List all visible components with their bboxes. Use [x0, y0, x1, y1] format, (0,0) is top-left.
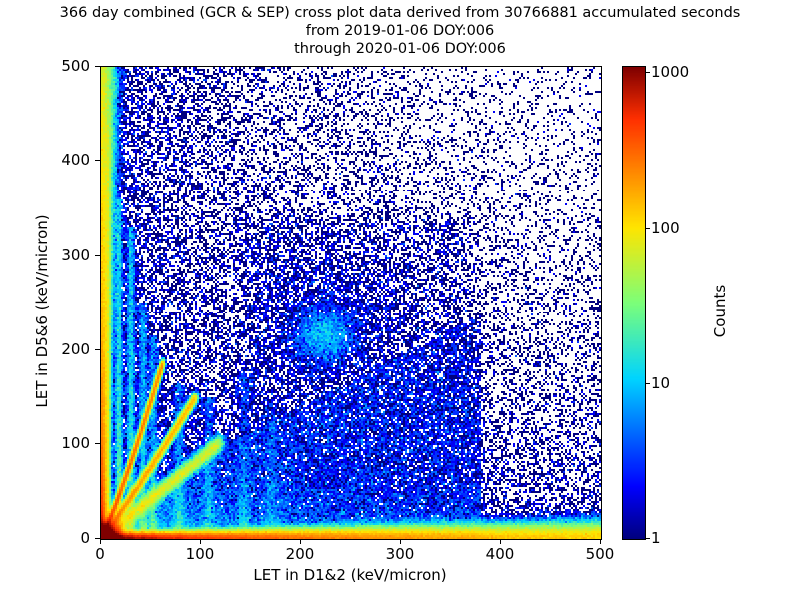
colorbar-tick-mark: [645, 383, 650, 384]
y-tick-mark: [95, 443, 100, 444]
figure-root: 366 day combined (GCR & SEP) cross plot …: [0, 0, 800, 600]
y-tick-mark: [95, 160, 100, 161]
y-tick-label: 200: [61, 340, 90, 358]
y-tick-mark: [95, 66, 100, 67]
x-axis-label: LET in D1&2 (keV/micron): [100, 566, 600, 584]
colorbar-tick-mark: [645, 72, 650, 73]
x-tick-mark: [600, 539, 601, 544]
x-tick-mark: [200, 539, 201, 544]
x-tick-label: 0: [95, 545, 105, 563]
x-tick-label: 500: [586, 545, 615, 563]
colorbar-tick-label: 1000: [651, 63, 689, 81]
density-scatter-canvas: [101, 67, 601, 539]
colorbar-gradient: [623, 67, 645, 539]
x-tick-label: 400: [486, 545, 515, 563]
y-tick-mark: [95, 255, 100, 256]
x-tick-label: 100: [186, 545, 215, 563]
colorbar: [622, 66, 646, 540]
y-tick-label: 400: [61, 151, 90, 169]
x-tick-mark: [400, 539, 401, 544]
y-tick-mark: [95, 349, 100, 350]
colorbar-tick-mark: [645, 538, 650, 539]
colorbar-tick-mark: [645, 228, 650, 229]
y-tick-label: 300: [61, 246, 90, 264]
colorbar-tick-label: 100: [651, 219, 680, 237]
y-tick-label: 100: [61, 434, 90, 452]
title-line-2: from 2019-01-06 DOY:006: [0, 22, 800, 40]
y-axis-label: LET in D5&6 (keV/micron): [33, 151, 51, 471]
colorbar-tick-label: 10: [651, 374, 670, 392]
colorbar-axis-label: Counts: [711, 221, 729, 401]
y-tick-label: 0: [80, 529, 90, 547]
x-tick-mark: [500, 539, 501, 544]
title-line-3: through 2020-01-06 DOY:006: [0, 40, 800, 58]
title-line-1: 366 day combined (GCR & SEP) cross plot …: [0, 4, 800, 22]
x-tick-label: 200: [286, 545, 315, 563]
x-tick-mark: [300, 539, 301, 544]
plot-area: [100, 66, 602, 540]
colorbar-tick-label: 1: [651, 529, 661, 547]
chart-title: 366 day combined (GCR & SEP) cross plot …: [0, 4, 800, 58]
x-tick-mark: [100, 539, 101, 544]
y-tick-mark: [95, 538, 100, 539]
y-tick-label: 500: [61, 57, 90, 75]
x-tick-label: 300: [386, 545, 415, 563]
